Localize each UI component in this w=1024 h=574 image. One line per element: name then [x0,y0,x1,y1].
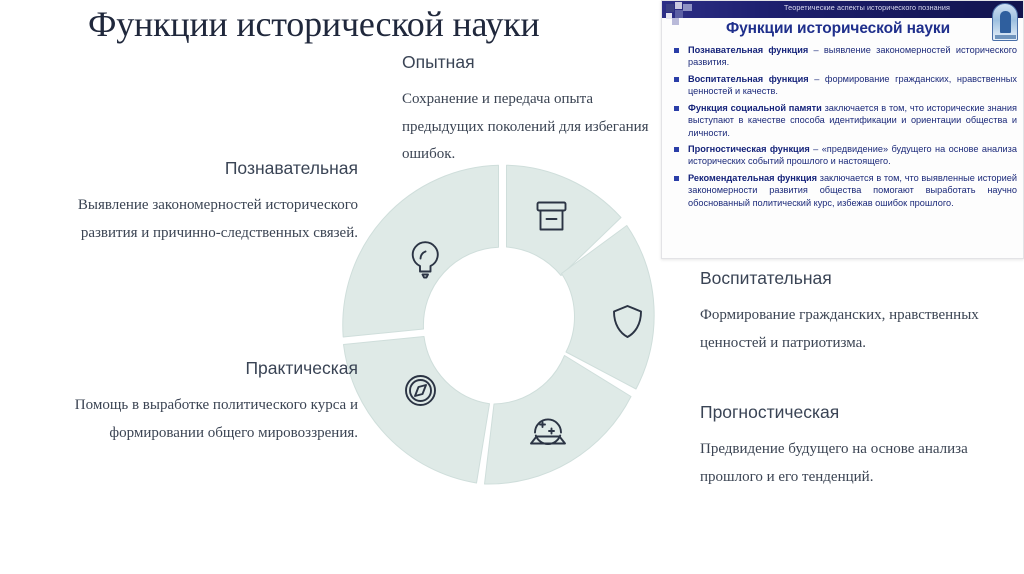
callout-body: Предвидение будущего на основе анализа п… [700,436,1005,492]
callout-body: Помощь в выработке политического курса и… [58,392,358,448]
list-item-text: Рекомендательная функция заключается в т… [688,172,1017,209]
list-item: Познавательная функция – выявление закон… [672,44,1017,69]
callout-title: Прогностическая [700,402,1005,424]
list-item-bold: Воспитательная функция [688,74,809,84]
callout-vospitatelnaya: Воспитательная Формирование гражданских,… [700,268,1000,357]
list-item-bold: Прогностическая функция [688,144,810,154]
list-item-bold: Познавательная функция [688,45,808,55]
callout-body: Сохранение и передача опыта предыдущих п… [402,86,660,169]
callout-body: Формирование гражданских, нравственных ц… [700,302,1000,358]
bullet-square-icon [674,106,679,111]
inset-heading: Функции исторической науки [662,20,1014,38]
bullet-square-icon [674,147,679,152]
bullet-square-icon [674,176,679,181]
callout-title: Воспитательная [700,268,1000,290]
list-item: Прогностическая функция – «предвидение» … [672,143,1017,168]
callout-prognosticheskaya: Прогностическая Предвидение будущего на … [700,402,1005,491]
callout-title: Опытная [402,52,660,74]
page-title: Функции исторической науки [88,4,668,45]
callout-prakticheskaya: Практическая Помощь в выработке политиче… [58,358,358,447]
list-item-text: Познавательная функция – выявление закон… [688,44,1017,69]
list-item-bold: Функция социальной памяти [688,103,822,113]
donut-segment-poznavatelnaya[interactable] [343,165,499,337]
list-item-text: Прогностическая функция – «предвидение» … [688,143,1017,168]
list-item: Воспитательная функция – формирование гр… [672,73,1017,98]
callout-poznavatelnaya: Познавательная Выявление закономерностей… [68,158,358,247]
inset-bullet-list: Познавательная функция – выявление закон… [672,44,1017,213]
donut-diagram [334,158,668,492]
inset-slide-panel[interactable]: Теоретические аспекты исторического позн… [661,0,1024,259]
bullet-square-icon [674,77,679,82]
list-item: Функция социальной памяти заключается в … [672,102,1017,139]
callout-title: Практическая [58,358,358,380]
inset-topbar-title: Теоретические аспекты исторического позн… [732,3,1002,12]
list-item-text: Воспитательная функция – формирование гр… [688,73,1017,98]
list-item-text: Функция социальной памяти заключается в … [688,102,1017,139]
donut-segment-prakticheskaya[interactable] [344,337,490,484]
callout-opytnaya: Опытная Сохранение и передача опыта пред… [402,52,660,169]
callout-title: Познавательная [68,158,358,180]
bullet-square-icon [674,48,679,53]
slide-canvas: Функции исторической науки [0,0,1024,574]
callout-body: Выявление закономерностей исторического … [68,192,358,248]
list-item-bold: Рекомендательная функция [688,173,817,183]
list-item: Рекомендательная функция заключается в т… [672,172,1017,209]
